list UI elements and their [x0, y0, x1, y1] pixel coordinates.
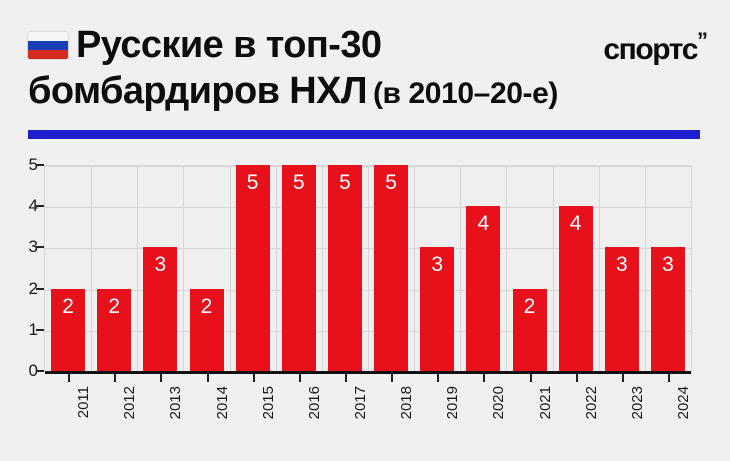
- x-axis-tick-mark: [668, 374, 670, 382]
- x-axis-tick-label: 2011: [75, 386, 92, 418]
- x-axis-tick-label: 2021: [537, 386, 554, 419]
- title-line-1: Русские в топ-30: [28, 22, 668, 68]
- x-axis-tick-label: 2014: [214, 386, 231, 419]
- y-axis-tick-label: 2: [0, 279, 38, 299]
- y-axis-tick-mark: [36, 370, 44, 372]
- x-axis-tick-mark: [345, 374, 347, 382]
- x-axis-tick-mark: [253, 374, 255, 382]
- brand-logo-text: спортс: [603, 33, 697, 66]
- page-title: Русские в топ-30: [76, 22, 381, 68]
- bar: 3: [420, 247, 454, 371]
- brand-logo: спортс”: [603, 24, 706, 67]
- bar-value-label: 2: [51, 296, 85, 318]
- bar-value-label: 4: [559, 213, 593, 235]
- x-axis-tick-label: 2020: [490, 386, 507, 419]
- x-axis-tick-mark: [576, 374, 578, 382]
- x-axis-tick-label: 2019: [444, 386, 461, 419]
- y-axis-tick-mark: [36, 205, 44, 207]
- y-axis-tick-label: 3: [0, 237, 38, 257]
- bar-value-label: 5: [236, 172, 270, 194]
- bar-value-label: 2: [513, 296, 547, 318]
- x-axis-line: [45, 371, 691, 374]
- bar: 2: [513, 289, 547, 371]
- bar: 4: [466, 206, 500, 371]
- y-axis-tick-label: 5: [0, 155, 38, 175]
- x-axis-tick-mark: [160, 374, 162, 382]
- bars-layer: 22325555342433: [45, 165, 691, 371]
- title-block: Русские в топ-30 бомбардиров НХЛ (в 2010…: [28, 22, 668, 117]
- bar-value-label: 3: [420, 254, 454, 276]
- y-axis-tick-mark: [36, 288, 44, 290]
- bar: 2: [51, 289, 85, 371]
- x-axis-tick-mark: [68, 374, 70, 382]
- page-title-line2: бомбардиров НХЛ: [28, 68, 367, 114]
- header: Русские в топ-30 бомбардиров НХЛ (в 2010…: [0, 0, 730, 128]
- bar: 3: [143, 247, 177, 371]
- x-axis-tick-label: 2023: [629, 386, 646, 419]
- x-axis-tick-label: 2013: [167, 386, 184, 419]
- page-subtitle: (в 2010–20-е): [373, 71, 558, 117]
- bar: 5: [282, 165, 316, 371]
- x-axis-tick-mark: [391, 374, 393, 382]
- bar-value-label: 5: [282, 172, 316, 194]
- bar-value-label: 4: [466, 213, 500, 235]
- bar-value-label: 5: [374, 172, 408, 194]
- bar-value-label: 3: [651, 254, 685, 276]
- bar: 3: [651, 247, 685, 371]
- title-line-2: бомбардиров НХЛ (в 2010–20-е): [28, 68, 668, 117]
- x-axis-tick-mark: [114, 374, 116, 382]
- x-axis-tick-mark: [622, 374, 624, 382]
- x-axis-tick-label: 2018: [398, 386, 415, 419]
- x-axis-tick-label: 2012: [121, 386, 138, 419]
- x-axis-tick-mark: [299, 374, 301, 382]
- x-axis-tick-mark: [207, 374, 209, 382]
- bar: 5: [374, 165, 408, 371]
- x-axis-tick-label: 2024: [675, 386, 692, 419]
- bar: 4: [559, 206, 593, 371]
- bar-value-label: 3: [143, 254, 177, 276]
- x-axis-tick-mark: [437, 374, 439, 382]
- bar-value-label: 2: [97, 296, 131, 318]
- russian-flag-icon: [28, 32, 68, 59]
- bar-value-label: 3: [605, 254, 639, 276]
- bar-value-label: 5: [328, 172, 362, 194]
- bar: 5: [328, 165, 362, 371]
- y-axis-tick-label: 4: [0, 196, 38, 216]
- x-axis-tick-label: 2017: [352, 386, 369, 419]
- bar-value-label: 2: [190, 296, 224, 318]
- bar: 3: [605, 247, 639, 371]
- x-axis-tick-label: 2022: [583, 386, 600, 419]
- brand-logo-mark: ”: [697, 28, 706, 53]
- y-axis-tick-mark: [36, 164, 44, 166]
- x-axis-tick-mark: [483, 374, 485, 382]
- y-axis-tick-label: 0: [0, 361, 38, 381]
- x-axis-tick-label: 2016: [306, 386, 323, 419]
- x-axis-tick-mark: [530, 374, 532, 382]
- y-axis-tick-label: 1: [0, 320, 38, 340]
- bar: 2: [97, 289, 131, 371]
- bar: 2: [190, 289, 224, 371]
- bar: 5: [236, 165, 270, 371]
- bar-chart: 22325555342433 012345 201120122013201420…: [0, 148, 730, 461]
- y-axis-tick-mark: [36, 329, 44, 331]
- x-axis-tick-label: 2015: [260, 386, 277, 419]
- y-axis-tick-mark: [36, 246, 44, 248]
- header-divider: [28, 130, 700, 139]
